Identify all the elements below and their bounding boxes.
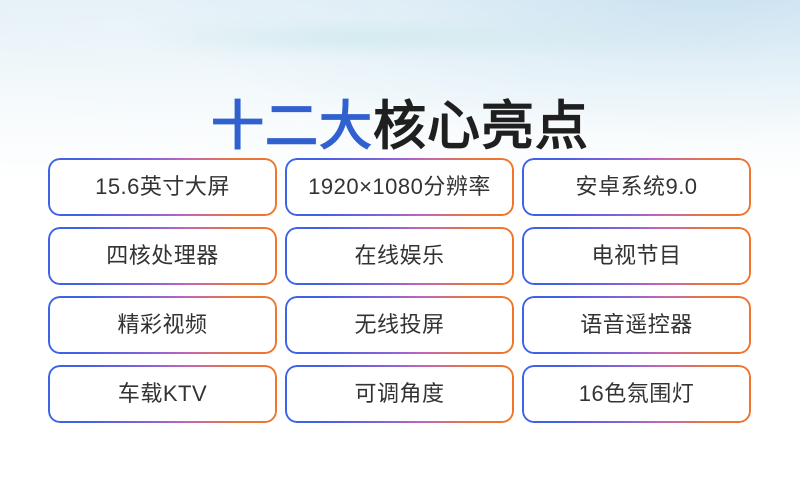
page-title-plain: 核心亮点	[373, 97, 589, 156]
feature-card-label: 16色氛围灯	[579, 381, 694, 407]
feature-card-label: 1920×1080分辨率	[308, 174, 491, 200]
feature-card-car-ktv[interactable]: 车载KTV	[48, 365, 277, 423]
feature-card-label: 精彩视频	[117, 312, 207, 338]
feature-card-android-version[interactable]: 安卓系统9.0	[522, 158, 751, 216]
feature-card-label: 15.6英寸大屏	[95, 174, 230, 200]
feature-card-label: 车载KTV	[118, 381, 207, 407]
feature-card-voice-remote[interactable]: 语音遥控器	[522, 296, 751, 354]
background-gradient-streak	[0, 28, 800, 48]
feature-card-label: 在线娱乐	[354, 243, 444, 269]
feature-highlights-page: 十二大核心亮点 15.6英寸大屏 1920×1080分辨率 安卓系统9.0 四核…	[0, 0, 800, 487]
feature-card-tv-programs[interactable]: 电视节目	[522, 227, 751, 285]
feature-card-label: 电视节目	[591, 243, 681, 269]
feature-card-wireless-screen-mirroring[interactable]: 无线投屏	[285, 296, 514, 354]
page-title-accent: 十二大	[211, 97, 373, 156]
feature-card-online-entertainment[interactable]: 在线娱乐	[285, 227, 514, 285]
feature-card-screen-size[interactable]: 15.6英寸大屏	[48, 158, 277, 216]
feature-card-label: 可调角度	[354, 381, 444, 407]
page-title: 十二大核心亮点	[0, 96, 800, 158]
feature-card-quad-core-cpu[interactable]: 四核处理器	[48, 227, 277, 285]
feature-card-label: 语音遥控器	[580, 312, 693, 338]
feature-card-label: 安卓系统9.0	[575, 174, 697, 200]
feature-card-videos[interactable]: 精彩视频	[48, 296, 277, 354]
feature-card-label: 四核处理器	[106, 243, 219, 269]
feature-card-adjustable-angle[interactable]: 可调角度	[285, 365, 514, 423]
feature-card-ambient-lighting[interactable]: 16色氛围灯	[522, 365, 751, 423]
feature-card-label: 无线投屏	[354, 312, 444, 338]
feature-card-resolution[interactable]: 1920×1080分辨率	[285, 158, 514, 216]
feature-card-grid: 15.6英寸大屏 1920×1080分辨率 安卓系统9.0 四核处理器 在线娱乐…	[48, 158, 752, 423]
